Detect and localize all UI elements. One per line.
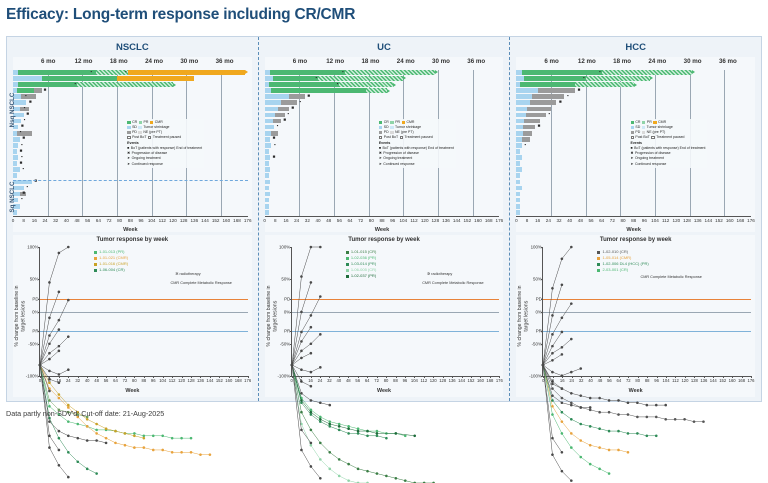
response-point — [580, 406, 583, 409]
legend-swatch-ne — [642, 131, 645, 134]
response-point — [703, 420, 706, 423]
response-point — [300, 368, 303, 371]
ongoing-arrow-icon — [692, 70, 695, 74]
response-week-tick-mark — [182, 376, 183, 378]
bar-segment-sd — [516, 88, 537, 93]
swimmer-plot-uc: 6 mo12 mo18 mo24 mo30 mo36 mo▪▪▪■▪■▪■▪■▪… — [265, 57, 504, 232]
response-point — [58, 345, 61, 348]
swimmer-bar-row: ▪ — [265, 100, 500, 105]
bar-segment-resp — [522, 70, 602, 75]
swimmer-legend: CRPRCMRSDTumor shrinkagePDNE (pre PT)Pos… — [377, 119, 456, 168]
y-axis-label-line2: target lesions — [21, 285, 28, 346]
legend-event-icon: ➤ — [631, 162, 634, 167]
swimmer-bar-row — [13, 210, 248, 215]
event-marker-pd: ■ — [307, 94, 310, 99]
footnote: Data partly non-SDV'd; Cut-off date: 21-… — [6, 409, 164, 418]
week-tick: 8 — [526, 218, 529, 223]
response-week-tick: 128 — [188, 378, 195, 383]
response-x-axis-label: Week — [516, 388, 755, 394]
response-week-tick: 40 — [337, 378, 342, 383]
event-marker-bot: ▪ — [315, 76, 317, 81]
response-line — [40, 365, 144, 438]
bar-segment-sd — [516, 113, 525, 118]
response-week-tick: 24 — [318, 378, 323, 383]
response-point — [39, 364, 42, 367]
response-week-tick-mark — [386, 376, 387, 378]
week-tick: 88 — [379, 218, 384, 223]
event-marker-pd: ■ — [44, 88, 47, 93]
response-week-tick-mark — [348, 376, 349, 378]
response-point — [561, 353, 564, 356]
response-week-tick-mark — [572, 376, 573, 378]
response-point — [561, 451, 564, 454]
response-point — [561, 397, 564, 400]
bar-segment-sd — [265, 167, 270, 172]
bar-segment-resp — [270, 70, 345, 75]
legend-swatch-shr — [138, 126, 141, 129]
response-week-tick: 112 — [169, 378, 176, 383]
swimmer-plot-nsclc: 6 mo12 mo18 mo24 mo30 mo36 mo▪▪▪■▪■▪■▪■▪… — [13, 57, 252, 232]
week-tick: 176 — [747, 218, 755, 223]
bar-segment-sd — [265, 210, 269, 215]
response-week-tick-mark — [471, 376, 472, 378]
event-marker-pd: ■ — [578, 88, 581, 93]
legend-label: Treatment paused — [656, 135, 684, 140]
month-tick: 30 mo — [684, 58, 702, 65]
response-point — [347, 425, 350, 428]
cmr-definition-note: CMR Complete Metabolic Response — [171, 281, 232, 285]
legend-event-icon: ➤ — [127, 162, 130, 167]
swimmer-legend: CRPRCMRSDTumor shrinkagePDNE (pre PT)Pos… — [125, 119, 204, 168]
bar-segment-pd — [281, 100, 297, 105]
legend-swatch-prior — [631, 136, 634, 139]
response-point — [300, 411, 303, 414]
response-point — [551, 359, 554, 362]
response-week-tick: 96 — [654, 378, 659, 383]
response-point — [551, 399, 554, 402]
response-week-tick: 160 — [729, 378, 736, 383]
response-point — [385, 475, 388, 478]
swimmer-bar-row: ■ — [265, 107, 500, 112]
swimmer-bar-row: ▪ — [13, 167, 248, 172]
response-point — [627, 432, 630, 435]
week-tick: 64 — [347, 218, 352, 223]
bar-segment-sd — [265, 173, 269, 178]
bar-segment-sd — [265, 149, 269, 154]
response-chart-hcc: Tumor response by week% change from base… — [516, 235, 755, 397]
response-week-tick: 80 — [635, 378, 640, 383]
response-week-tick: 64 — [113, 378, 118, 383]
response-week-tick-mark — [200, 376, 201, 378]
event-marker-bot: ▪ — [25, 94, 27, 99]
bar-segment-sd — [13, 149, 17, 154]
response-point — [319, 333, 322, 336]
bar-segment-sd — [516, 198, 520, 203]
week-tick: 32 — [53, 218, 58, 223]
week-tick: 56 — [337, 218, 342, 223]
swimmer-bar-row: ▪ — [13, 186, 248, 191]
week-tick: 32 — [556, 218, 561, 223]
bar-segment-cont — [575, 82, 634, 87]
week-tick: 144 — [453, 218, 461, 223]
response-week-tick: 88 — [645, 378, 650, 383]
week-tick: 24 — [42, 218, 47, 223]
response-chart-nsclc: Tumor response by week% change from base… — [13, 235, 252, 397]
response-week-tick: 120 — [681, 378, 688, 383]
response-week-tick: 168 — [235, 378, 242, 383]
response-point — [589, 444, 592, 447]
response-point — [58, 319, 61, 322]
response-week-tick-mark — [543, 376, 544, 378]
swimmer-month-axis: 6 mo12 mo18 mo24 mo30 mo36 mo — [13, 57, 252, 69]
response-point — [551, 405, 554, 408]
event-marker-bot: ▪ — [342, 70, 344, 75]
bar-segment-post — [117, 76, 194, 81]
response-point — [48, 342, 51, 345]
week-tick: 24 — [294, 218, 299, 223]
ongoing-arrow-icon — [403, 76, 406, 80]
week-tick: 152 — [715, 218, 723, 223]
response-point — [589, 425, 592, 428]
response-point — [319, 477, 322, 480]
response-point — [86, 439, 89, 442]
response-point — [309, 371, 312, 374]
week-tick: 40 — [315, 218, 320, 223]
week-tick: 56 — [85, 218, 90, 223]
swimmer-bar-row — [516, 204, 751, 209]
week-tick: 72 — [106, 218, 111, 223]
month-tick: 6 mo — [41, 58, 55, 65]
response-y-axis-label: % change from baseline intarget lesions — [266, 285, 279, 346]
swimmer-bar-row: ■ — [13, 113, 248, 118]
response-point — [561, 420, 564, 423]
response-point — [375, 472, 378, 475]
bar-segment-sd — [516, 173, 520, 178]
response-point — [58, 328, 61, 331]
response-point — [290, 364, 293, 367]
legend-swatch-ne — [138, 131, 141, 134]
response-point — [95, 439, 98, 442]
ongoing-arrow-icon — [245, 70, 248, 74]
response-week-tick: 88 — [141, 378, 146, 383]
y-axis-label-line2: target lesions — [524, 285, 531, 346]
event-marker-bot: ▪ — [21, 143, 23, 148]
response-week-tick: 144 — [710, 378, 717, 383]
response-week-tick: 32 — [579, 378, 584, 383]
swimmer-bar-row: ■ — [13, 100, 248, 105]
ongoing-arrow-icon — [634, 83, 637, 87]
legend-label: Post BoT — [132, 135, 146, 140]
legend-swatch-pd — [379, 131, 382, 134]
bar-segment-sd — [265, 155, 270, 160]
response-point — [67, 335, 70, 338]
event-marker-bot: ▪ — [90, 70, 92, 75]
swimmer-bar-row — [516, 186, 751, 191]
response-point — [627, 451, 630, 454]
response-point — [599, 427, 602, 430]
response-point — [570, 446, 573, 449]
response-point — [190, 437, 193, 440]
response-point — [627, 401, 630, 404]
response-point — [580, 423, 583, 426]
swimmer-bar-row — [516, 210, 751, 215]
response-point — [300, 399, 303, 402]
week-tick: 16 — [283, 218, 288, 223]
response-point — [48, 334, 51, 337]
week-tick: 160 — [222, 218, 230, 223]
response-week-tick-mark — [619, 376, 620, 378]
group-label-1: Sq NSCLC — [9, 182, 16, 213]
legend-swatch-pd — [631, 131, 634, 134]
legend-swatch-pr — [139, 121, 142, 124]
response-week-tick-mark — [191, 376, 192, 378]
legend-event-icon: ➤ — [379, 162, 382, 167]
legend-event-row: ➤Continued response — [379, 162, 454, 167]
response-week-tick-mark — [358, 376, 359, 378]
swimmer-bar-row — [265, 192, 500, 197]
month-tick: 12 mo — [75, 58, 93, 65]
response-week-tick-mark — [106, 376, 107, 378]
response-point — [366, 470, 369, 473]
event-marker-pd: ■ — [21, 124, 24, 129]
response-week-tick-mark — [292, 376, 293, 378]
response-point — [551, 413, 554, 416]
response-point — [300, 357, 303, 360]
response-week-tick-mark — [480, 376, 481, 378]
week-tick: 80 — [369, 218, 374, 223]
response-week-tick: 120 — [430, 378, 437, 383]
response-week-tick: 72 — [123, 378, 128, 383]
response-point — [76, 423, 79, 426]
week-tick: 136 — [190, 218, 198, 223]
bar-segment-sd — [13, 76, 42, 81]
legend-swatch-cmr — [402, 121, 405, 124]
response-week-tick: 112 — [672, 378, 679, 383]
week-tick: 8 — [274, 218, 277, 223]
response-point — [570, 246, 573, 249]
swimmer-bar-row: ■ — [13, 192, 248, 197]
response-point — [309, 352, 312, 355]
response-point — [300, 311, 303, 314]
bar-segment-cont — [602, 70, 693, 75]
response-point — [589, 409, 592, 412]
response-week-tick-mark — [581, 376, 582, 378]
response-week-tick: 24 — [569, 378, 574, 383]
response-week-tick-mark — [396, 376, 397, 378]
response-week-tick: 176 — [496, 378, 503, 383]
response-week-tick: 0 — [542, 378, 544, 383]
y-tick-label: -50% — [280, 341, 290, 346]
bar-segment-sd — [265, 186, 269, 191]
event-marker-pd: ■ — [273, 136, 276, 141]
swimmer-bar-row: ▪ — [265, 76, 500, 81]
y-axis-label-line2: target lesions — [272, 285, 279, 346]
response-week-tick-mark — [499, 376, 500, 378]
response-line — [40, 247, 68, 365]
response-chart-title: Tumor response by week — [13, 237, 252, 243]
month-tick: 24 mo — [648, 58, 666, 65]
bar-segment-sd — [516, 167, 521, 172]
event-marker-bot: ▪ — [26, 185, 28, 190]
panel-nsclc: NSCLC6 mo12 mo18 mo24 mo30 mo36 mo▪▪▪■▪■… — [7, 37, 258, 401]
response-point — [133, 446, 136, 449]
bar-segment-sd — [265, 107, 278, 112]
event-marker-bot: ▪ — [274, 143, 276, 148]
response-point — [105, 427, 108, 430]
event-marker-pd: ■ — [283, 118, 286, 123]
week-tick: 16 — [32, 218, 37, 223]
y-tick-label: -50% — [532, 341, 542, 346]
response-week-tick-mark — [229, 376, 230, 378]
response-week-tick: 80 — [132, 378, 137, 383]
swimmer-bar-row: ▪ — [13, 94, 248, 99]
response-point — [338, 458, 341, 461]
week-tick: 8 — [22, 218, 25, 223]
event-marker-pd: ■ — [559, 100, 562, 105]
response-week-tick-mark — [704, 376, 705, 378]
response-point — [580, 367, 583, 370]
response-week-tick-mark — [742, 376, 743, 378]
legend-label: Post BoT — [635, 135, 649, 140]
response-week-tick: 176 — [244, 378, 251, 383]
bar-segment-sd — [13, 137, 20, 142]
response-point — [347, 479, 350, 482]
bar-segment-sd — [516, 180, 520, 185]
response-week-tick: 104 — [159, 378, 166, 383]
legend-swatch-cr — [379, 121, 382, 124]
response-point — [86, 418, 89, 421]
response-point — [76, 460, 79, 463]
response-legend-label: 1-02-037 (PR) — [351, 273, 376, 279]
legend-swatch-pr — [390, 121, 393, 124]
bar-segment-sd — [516, 143, 521, 148]
response-week-tick-mark — [311, 376, 312, 378]
response-week-tick: 0 — [291, 378, 293, 383]
y-tick-label: 100% — [531, 245, 542, 250]
bar-segment-sd — [265, 180, 270, 185]
response-point — [646, 434, 649, 437]
response-week-tick-mark — [377, 376, 378, 378]
response-point — [143, 437, 146, 440]
response-week-tick-mark — [87, 376, 88, 378]
response-point — [646, 416, 649, 419]
response-week-tick: 168 — [738, 378, 745, 383]
response-week-tick: 176 — [748, 378, 755, 383]
month-tick: 24 mo — [397, 58, 415, 65]
response-point — [551, 287, 554, 290]
response-week-tick: 88 — [393, 378, 398, 383]
month-tick: 36 mo — [719, 58, 737, 65]
y-tick-label: -100% — [26, 374, 39, 379]
response-point — [309, 444, 312, 447]
response-week-tick-mark — [562, 376, 563, 378]
response-week-tick-mark — [153, 376, 154, 378]
response-point — [542, 364, 545, 367]
response-point — [561, 316, 564, 319]
week-tick: 48 — [74, 218, 79, 223]
response-point — [551, 437, 554, 440]
response-point — [570, 302, 573, 305]
response-point — [86, 468, 89, 471]
legend-swatch-sd — [127, 126, 130, 129]
response-point — [171, 451, 174, 454]
response-week-tick-mark — [68, 376, 69, 378]
bar-segment-pd — [289, 94, 305, 99]
bar-segment-resp — [18, 70, 95, 75]
month-tick: 18 mo — [613, 58, 631, 65]
bar-segment-sd — [265, 192, 270, 197]
response-point — [665, 404, 668, 407]
event-marker-bot: ▪ — [21, 155, 23, 160]
bar-segment-resp — [18, 82, 77, 87]
legend-swatch-prior — [127, 136, 130, 139]
response-point — [356, 468, 359, 471]
response-series-group — [543, 247, 751, 483]
swimmer-axis-label: Week — [13, 227, 248, 233]
bar-segment-sd — [13, 161, 17, 166]
swimmer-bar-row: ▪▪ — [13, 70, 248, 75]
response-point — [67, 434, 70, 437]
response-point — [319, 246, 322, 249]
response-point — [561, 401, 564, 404]
event-marker-bot: ▪ — [299, 100, 301, 105]
response-week-tick-mark — [666, 376, 667, 378]
swimmer-bar-row: ▪ — [265, 113, 500, 118]
response-point — [124, 444, 127, 447]
swimmer-bar-row: ▪ — [13, 82, 248, 87]
response-point — [570, 479, 573, 482]
response-point — [95, 472, 98, 475]
response-point — [48, 316, 51, 319]
bar-segment-post — [128, 70, 245, 75]
response-point — [300, 429, 303, 432]
week-tick: 96 — [138, 218, 143, 223]
legend-swatch-pr — [642, 121, 645, 124]
response-week-tick-mark — [172, 376, 173, 378]
event-marker-bot: ▪ — [548, 112, 550, 117]
legend-marker-dot — [346, 251, 349, 254]
response-line — [292, 365, 320, 372]
legend-swatch-pd — [127, 131, 130, 134]
response-point — [599, 397, 602, 400]
bar-segment-resp — [42, 76, 117, 81]
swimmer-bar-row — [516, 167, 751, 172]
response-y-axis-label: % change from baseline intarget lesions — [14, 285, 27, 346]
month-tick: 12 mo — [578, 58, 596, 65]
event-marker-pd: ■ — [538, 124, 541, 129]
response-point — [328, 425, 331, 428]
swimmer-bar-row: ▪ — [516, 76, 751, 81]
response-week-tick-mark — [638, 376, 639, 378]
response-point — [570, 418, 573, 421]
panel-title: NSCLC — [7, 42, 258, 53]
panel-title: HCC — [510, 42, 761, 53]
response-point — [67, 368, 70, 371]
response-point — [570, 371, 573, 374]
response-week-tick-mark — [40, 376, 41, 378]
response-point — [309, 281, 312, 284]
event-marker-bot: ▪ — [20, 130, 22, 135]
event-marker-bot: ▪ — [74, 82, 76, 87]
cmr-definition-note: CMR Complete Metabolic Response — [422, 281, 483, 285]
response-point — [319, 442, 322, 445]
week-tick: 56 — [588, 218, 593, 223]
event-marker-pd: ■ — [22, 136, 25, 141]
response-point — [309, 399, 312, 402]
legend-marker-dot — [346, 269, 349, 272]
response-week-tick: 8 — [300, 378, 302, 383]
event-marker-bot: ▪ — [24, 106, 26, 111]
